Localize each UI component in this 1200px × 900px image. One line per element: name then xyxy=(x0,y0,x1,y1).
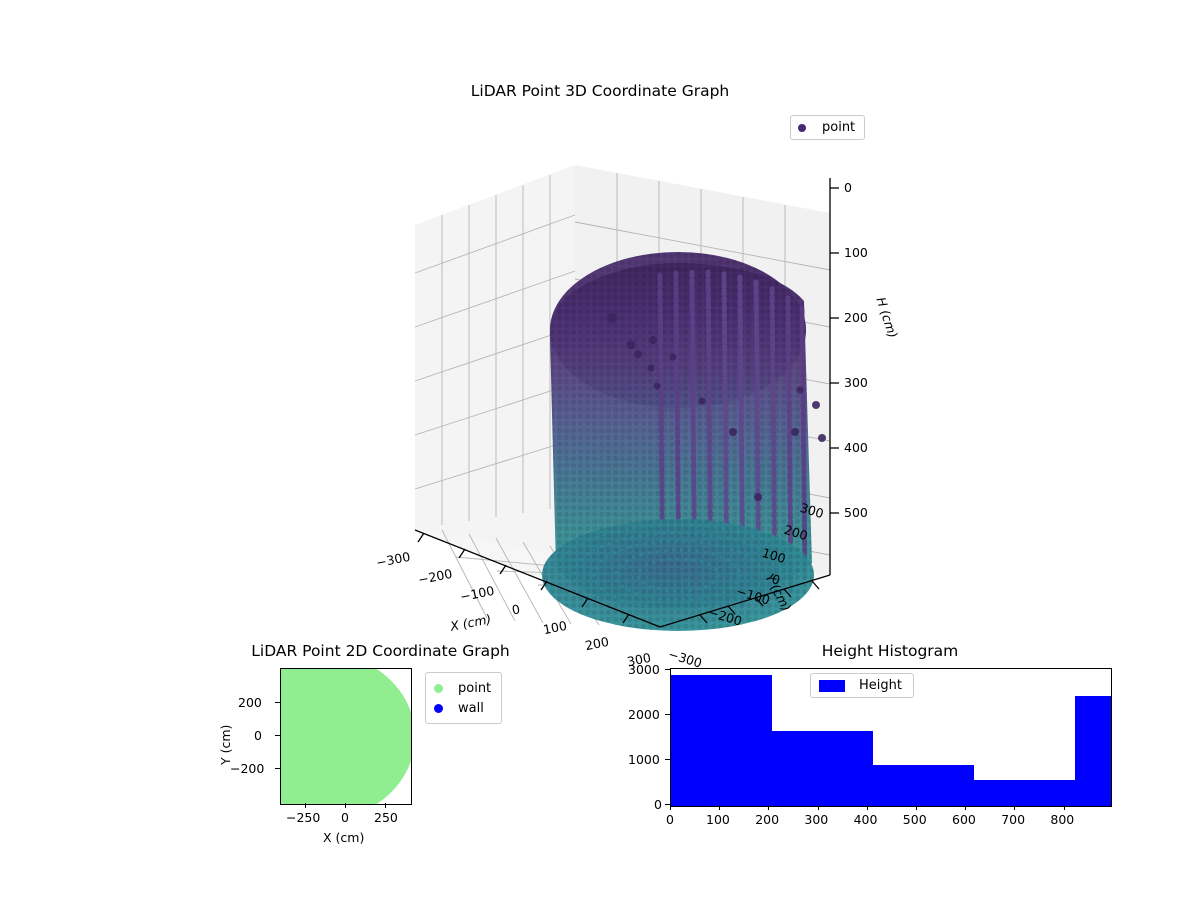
plot2d-legend-label-wall: wall xyxy=(458,701,484,716)
histogram-bar-2 xyxy=(873,765,974,806)
plot2d-axes[interactable] xyxy=(280,668,412,805)
histogram-xtickmark-0 xyxy=(670,805,671,810)
plot2d-yaxis-label: Y (cm) xyxy=(218,725,233,765)
plot3d-ztick-0: 0 xyxy=(844,180,852,195)
histogram-legend[interactable]: Height xyxy=(810,673,914,698)
plot2d-xtick-1: 0 xyxy=(341,810,349,825)
histogram-xtickmark-2 xyxy=(768,805,769,810)
plot2d-legend-row-point[interactable]: point xyxy=(434,678,491,698)
plot3d-panel: point −300 −200 −100 0 100 200 300 X (cm… xyxy=(360,105,920,665)
histogram-xtick-3: 300 xyxy=(804,812,828,827)
histogram-xtickmark-5 xyxy=(916,805,917,810)
histogram-bar-0 xyxy=(671,675,772,806)
plot2d-xtick-2: 250 xyxy=(374,810,398,825)
plot2d-ytickmark-0 xyxy=(275,702,280,703)
histogram-xtick-6: 600 xyxy=(952,812,976,827)
histogram-xtickmark-6 xyxy=(965,805,966,810)
plot2d-ytick-0: 200 xyxy=(238,695,262,710)
plot2d-ytick-2: −200 xyxy=(230,761,264,776)
plot3d-ztick-2: 200 xyxy=(844,310,868,325)
histogram-ytickmark-1 xyxy=(665,759,670,760)
histogram-ytick-2: 2000 xyxy=(628,707,660,722)
histogram-title: Height Histogram xyxy=(660,642,1120,660)
histogram-ytick-1: 1000 xyxy=(628,752,660,767)
histogram-xtick-8: 800 xyxy=(1050,812,1074,827)
histogram-xtick-4: 400 xyxy=(854,812,878,827)
histogram-xtick-0: 0 xyxy=(666,812,674,827)
histogram-xtickmark-3 xyxy=(818,805,819,810)
plot2d-title: LiDAR Point 2D Coordinate Graph xyxy=(208,642,553,660)
plot3d-point-cloud xyxy=(542,252,826,631)
legend-marker-point-icon xyxy=(798,124,806,132)
plot3d-ztick-3: 300 xyxy=(844,375,868,390)
legend-label-point: point xyxy=(822,120,855,135)
plot2d-legend-row-wall[interactable]: wall xyxy=(434,698,491,718)
plot2d-xtickmark-0 xyxy=(305,803,306,808)
plot3d-legend[interactable]: point xyxy=(790,115,865,140)
histogram-bar-1 xyxy=(772,731,873,806)
legend-marker-wall-icon xyxy=(434,704,443,713)
plot2d-xtickmark-2 xyxy=(385,803,386,808)
plot2d-legend-label-point: point xyxy=(458,681,491,696)
plot2d-ytickmark-1 xyxy=(275,735,280,736)
histogram-legend-label: Height xyxy=(859,678,902,693)
plot2d-xaxis-label: X (cm) xyxy=(323,830,364,845)
plot2d-xtick-0: −250 xyxy=(286,810,320,825)
plot2d-panel: LiDAR Point 2D Coordinate Graph 200 0 −2… xyxy=(150,640,570,870)
histogram-ytickmark-3 xyxy=(665,669,670,670)
plot2d-ytick-1: 0 xyxy=(254,728,262,743)
histogram-xtick-1: 100 xyxy=(706,812,730,827)
histogram-ytick-0: 0 xyxy=(654,797,662,812)
histogram-bar-4 xyxy=(1075,696,1111,806)
histogram-xtickmark-7 xyxy=(1014,805,1015,810)
histogram-xtick-5: 500 xyxy=(903,812,927,827)
legend-swatch-height-icon xyxy=(819,680,845,692)
histogram-xtick-7: 700 xyxy=(1001,812,1025,827)
histogram-xtick-2: 200 xyxy=(755,812,779,827)
plot3d-ztick-5: 500 xyxy=(844,505,868,520)
plot3d-title: LiDAR Point 3D Coordinate Graph xyxy=(0,82,1200,100)
plot2d-legend[interactable]: point wall xyxy=(425,672,502,724)
histogram-xtickmark-8 xyxy=(1064,805,1065,810)
histogram-xtickmark-1 xyxy=(719,805,720,810)
histogram-xtickmark-4 xyxy=(867,805,868,810)
legend-marker-point-icon xyxy=(434,684,443,693)
histogram-ytickmark-2 xyxy=(665,714,670,715)
plot2d-ytickmark-2 xyxy=(275,768,280,769)
histogram-bar-3 xyxy=(974,780,1075,806)
histogram-panel: Height Histogram 0 1000 2000 3000 0 100 … xyxy=(620,640,1120,870)
plot2d-point-region xyxy=(280,668,412,805)
histogram-ytick-3: 3000 xyxy=(628,662,660,677)
plot3d-ztick-4: 400 xyxy=(844,440,868,455)
plot2d-xtickmark-1 xyxy=(345,803,346,808)
plot3d-ztick-1: 100 xyxy=(844,245,868,260)
